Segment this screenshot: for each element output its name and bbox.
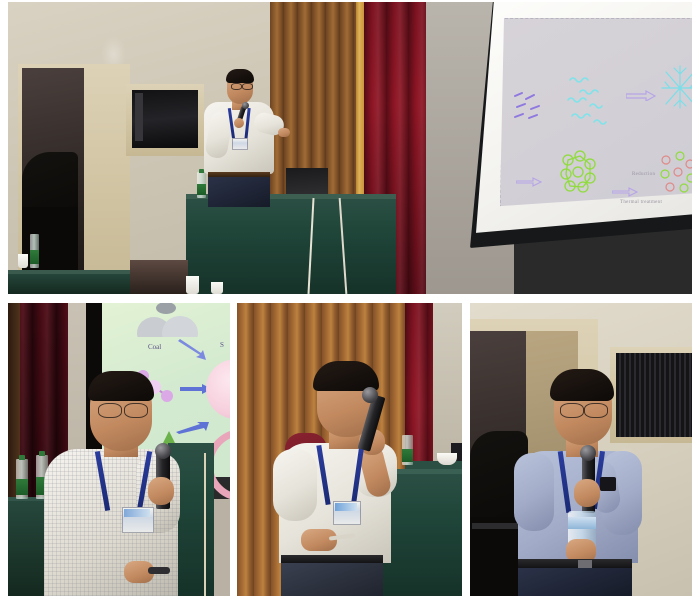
arrow-right-icon	[626, 89, 656, 101]
coal-mountains-icon	[136, 303, 200, 337]
glasses-icon	[584, 403, 608, 418]
slide-label-thermal-treatment: Thermal treatment	[620, 200, 662, 205]
paper-cup	[186, 276, 199, 294]
bottom-right-photo	[470, 303, 692, 596]
paper-cup	[211, 282, 223, 294]
snowflake-cluster-icon	[658, 62, 692, 114]
cable	[204, 453, 206, 596]
teacup	[437, 453, 457, 465]
arrow-right-icon	[612, 187, 638, 197]
slide-label-coal: Coal	[148, 343, 161, 351]
purple-rods-icon	[513, 90, 547, 120]
slide-label-s: S	[220, 341, 224, 349]
speaker-hair	[226, 69, 254, 83]
trousers	[518, 568, 632, 596]
trousers	[208, 177, 270, 207]
glasses-icon	[242, 83, 253, 90]
trousers	[281, 563, 383, 596]
bottom-middle-photo	[237, 303, 462, 596]
name-badge	[232, 138, 248, 150]
arrow-down-right-icon	[176, 339, 210, 361]
cyan-squiggles-icon	[564, 72, 616, 132]
paper-cup	[18, 254, 28, 268]
speaker-hair	[550, 369, 614, 401]
arrow-right-icon	[516, 177, 542, 187]
glasses-icon	[124, 403, 148, 418]
top-photo: Reduction Thermal treatment	[8, 2, 692, 294]
wristwatch	[600, 477, 616, 491]
green-lattice-cluster-icon	[556, 148, 602, 196]
glasses-icon	[231, 83, 242, 90]
glasses-icon	[560, 403, 584, 418]
slide-label-reduction: Reduction	[632, 172, 655, 177]
particle-cluster-icon	[656, 150, 692, 196]
presenter-table	[186, 194, 396, 294]
glasses-icon	[98, 403, 122, 418]
photo-collage: Reduction Thermal treatment	[0, 0, 700, 600]
bottom-left-photo: Coal S al gas	[8, 303, 230, 596]
wall-vent	[616, 353, 692, 437]
speaker-hair	[88, 371, 154, 401]
